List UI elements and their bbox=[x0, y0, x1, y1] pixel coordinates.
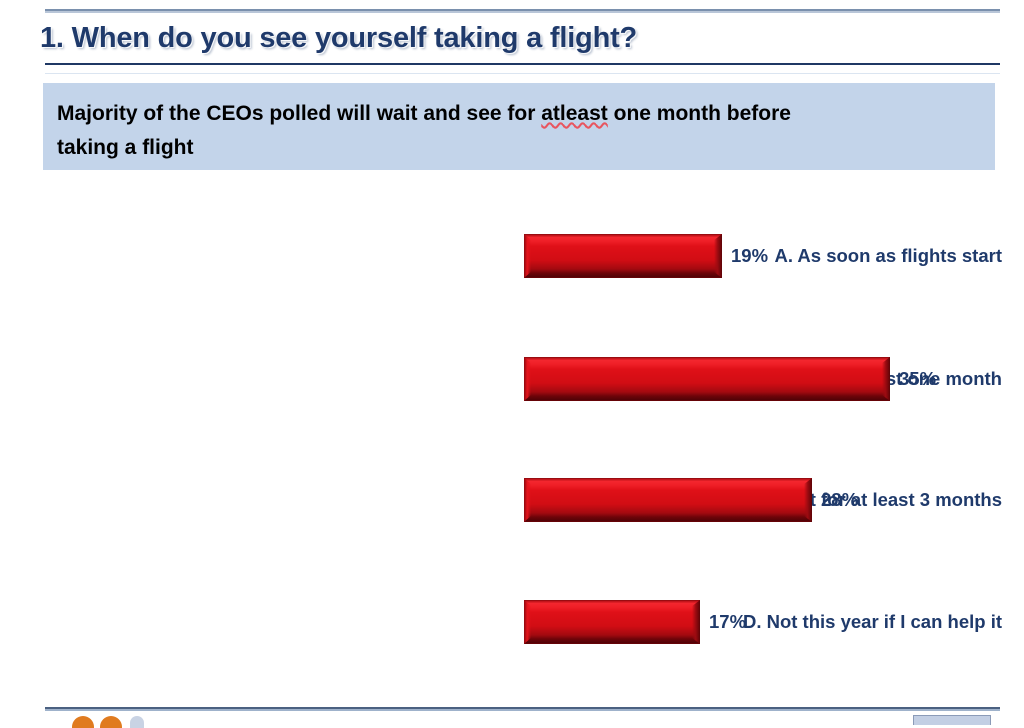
summary-text-line-2: taking a flight bbox=[57, 131, 979, 165]
bar-group: 19% bbox=[524, 234, 768, 278]
bottom-divider bbox=[45, 707, 1000, 711]
bar-group: 35% bbox=[524, 357, 936, 401]
bar bbox=[524, 478, 812, 522]
horizontal-bar-chart: A. As soon as flights start 19% B. Will … bbox=[0, 196, 1024, 666]
bar-value-label: 35% bbox=[899, 368, 936, 390]
chart-row: B. Will wait and see for at least one mo… bbox=[0, 357, 1024, 401]
chart-row: D. Not this year if I can help it 17% bbox=[0, 600, 1024, 644]
page-number-box bbox=[913, 715, 991, 725]
summary-text-part-1: Majority of the CEOs polled will wait an… bbox=[57, 102, 541, 125]
chart-row: C. Will wait for at least 3 months 28% bbox=[0, 478, 1024, 522]
chart-row: A. As soon as flights start 19% bbox=[0, 234, 1024, 278]
top-divider bbox=[45, 9, 1000, 13]
summary-banner: Majority of the CEOs polled will wait an… bbox=[43, 83, 995, 170]
bar-value-label: 17% bbox=[709, 611, 746, 633]
summary-banner-text: Majority of the CEOs polled will wait an… bbox=[57, 97, 979, 165]
title-underline-soft bbox=[45, 73, 1000, 74]
spellcheck-underlined-word: atleast bbox=[541, 102, 608, 125]
company-logo-icon bbox=[72, 716, 150, 728]
title-underline bbox=[45, 63, 1000, 65]
page-title: 1. When do you see yourself taking a fli… bbox=[40, 22, 637, 55]
bar bbox=[524, 600, 700, 644]
bar bbox=[524, 234, 722, 278]
bar-value-label: 19% bbox=[731, 245, 768, 267]
bar-value-label: 28% bbox=[821, 489, 858, 511]
bar-group: 28% bbox=[524, 478, 858, 522]
summary-text-part-2: one month before bbox=[614, 102, 791, 125]
bar-group: 17% bbox=[524, 600, 746, 644]
bar bbox=[524, 357, 890, 401]
